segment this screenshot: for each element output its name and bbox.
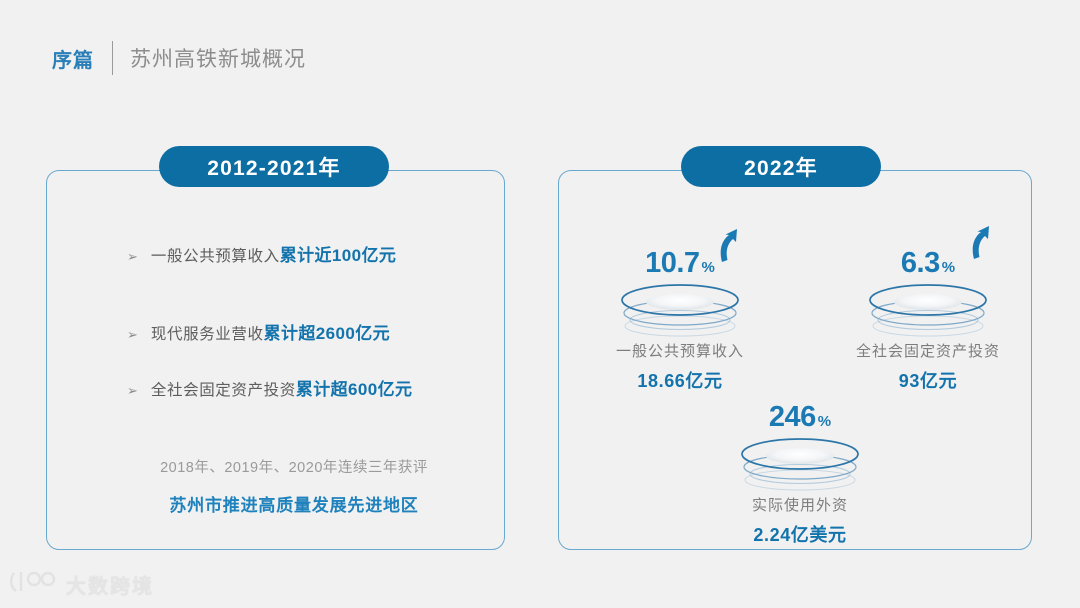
list-item: ➢ 一般公共预算收入 累计近100亿元	[127, 241, 497, 266]
stat-label: 一般公共预算收入	[580, 340, 780, 361]
award-note: 2018年、2019年、2020年连续三年获评	[129, 456, 459, 477]
list-item-emphasis: 累计超2600亿元	[264, 319, 390, 344]
stat-percent-value: 6.3	[901, 249, 940, 278]
watermark: 大数跨境	[8, 569, 154, 600]
slide-header: 序篇 苏州高铁新城概况	[52, 40, 306, 76]
disc-rings-graphic	[605, 276, 755, 338]
award-block: 2018年、2019年、2020年连续三年获评 苏州市推进高质量发展先进地区	[129, 456, 459, 516]
left-panel-badge: 2012-2021年	[159, 146, 389, 187]
stat-percent-sign: %	[702, 259, 715, 276]
stat-value: 2.24亿美元	[700, 521, 900, 547]
stat-actual-foreign-investment: 246 % 实际使用外资 2.24亿美元	[700, 392, 900, 547]
header-kicker: 序篇	[52, 44, 94, 73]
stat-fixed-asset-investment: 6.3 % 全社会固定资产投资 93亿元	[828, 238, 1028, 393]
stat-value: 18.66亿元	[580, 367, 780, 393]
stat-percent-sign: %	[942, 259, 955, 276]
disc-rings-graphic	[853, 276, 1003, 338]
list-item-emphasis: 累计近100亿元	[280, 241, 397, 266]
stat-value: 93亿元	[828, 367, 1028, 393]
bullet-arrow-icon: ➢	[127, 250, 138, 263]
stat-label: 实际使用外资	[700, 494, 900, 515]
stat-percent-sign: %	[818, 413, 831, 430]
watermark-text: 大数跨境	[66, 570, 154, 599]
up-arrow-icon	[716, 229, 742, 263]
right-panel-badge: 2022年	[681, 146, 881, 187]
stat-label: 全社会固定资产投资	[828, 340, 1028, 361]
list-item-label: 现代服务业营收	[151, 322, 264, 344]
list-item: ➢ 现代服务业营收 累计超2600亿元	[127, 319, 497, 344]
watermark-logo-icon	[8, 569, 60, 600]
stat-percent-value: 246	[769, 403, 816, 432]
list-item-label: 全社会固定资产投资	[151, 378, 296, 400]
stat-general-public-budget-revenue: 10.7 % 一般公共预算收入 18.66亿元	[580, 238, 780, 393]
up-arrow-icon	[968, 226, 994, 260]
list-item-emphasis: 累计超600亿元	[296, 375, 413, 400]
header-divider	[112, 41, 113, 75]
stat-percent-row: 6.3 %	[828, 238, 1028, 278]
disc-rings-graphic	[725, 430, 875, 492]
list-item: ➢ 全社会固定资产投资 累计超600亿元	[127, 375, 497, 400]
award-title: 苏州市推进高质量发展先进地区	[129, 491, 459, 516]
bullet-arrow-icon: ➢	[127, 328, 138, 341]
list-item-label: 一般公共预算收入	[151, 244, 280, 266]
left-panel-bullet-list: ➢ 一般公共预算收入 累计近100亿元 ➢ 现代服务业营收 累计超2600亿元 …	[127, 241, 497, 400]
page-title: 苏州高铁新城概况	[130, 43, 306, 73]
stat-percent-value: 10.7	[645, 249, 699, 278]
stat-percent-row: 246 %	[700, 392, 900, 432]
bullet-arrow-icon: ➢	[127, 384, 138, 397]
left-panel-2012-2021: 2012-2021年 ➢ 一般公共预算收入 累计近100亿元 ➢ 现代服务业营收…	[46, 170, 505, 550]
stat-percent-row: 10.7 %	[580, 238, 780, 278]
